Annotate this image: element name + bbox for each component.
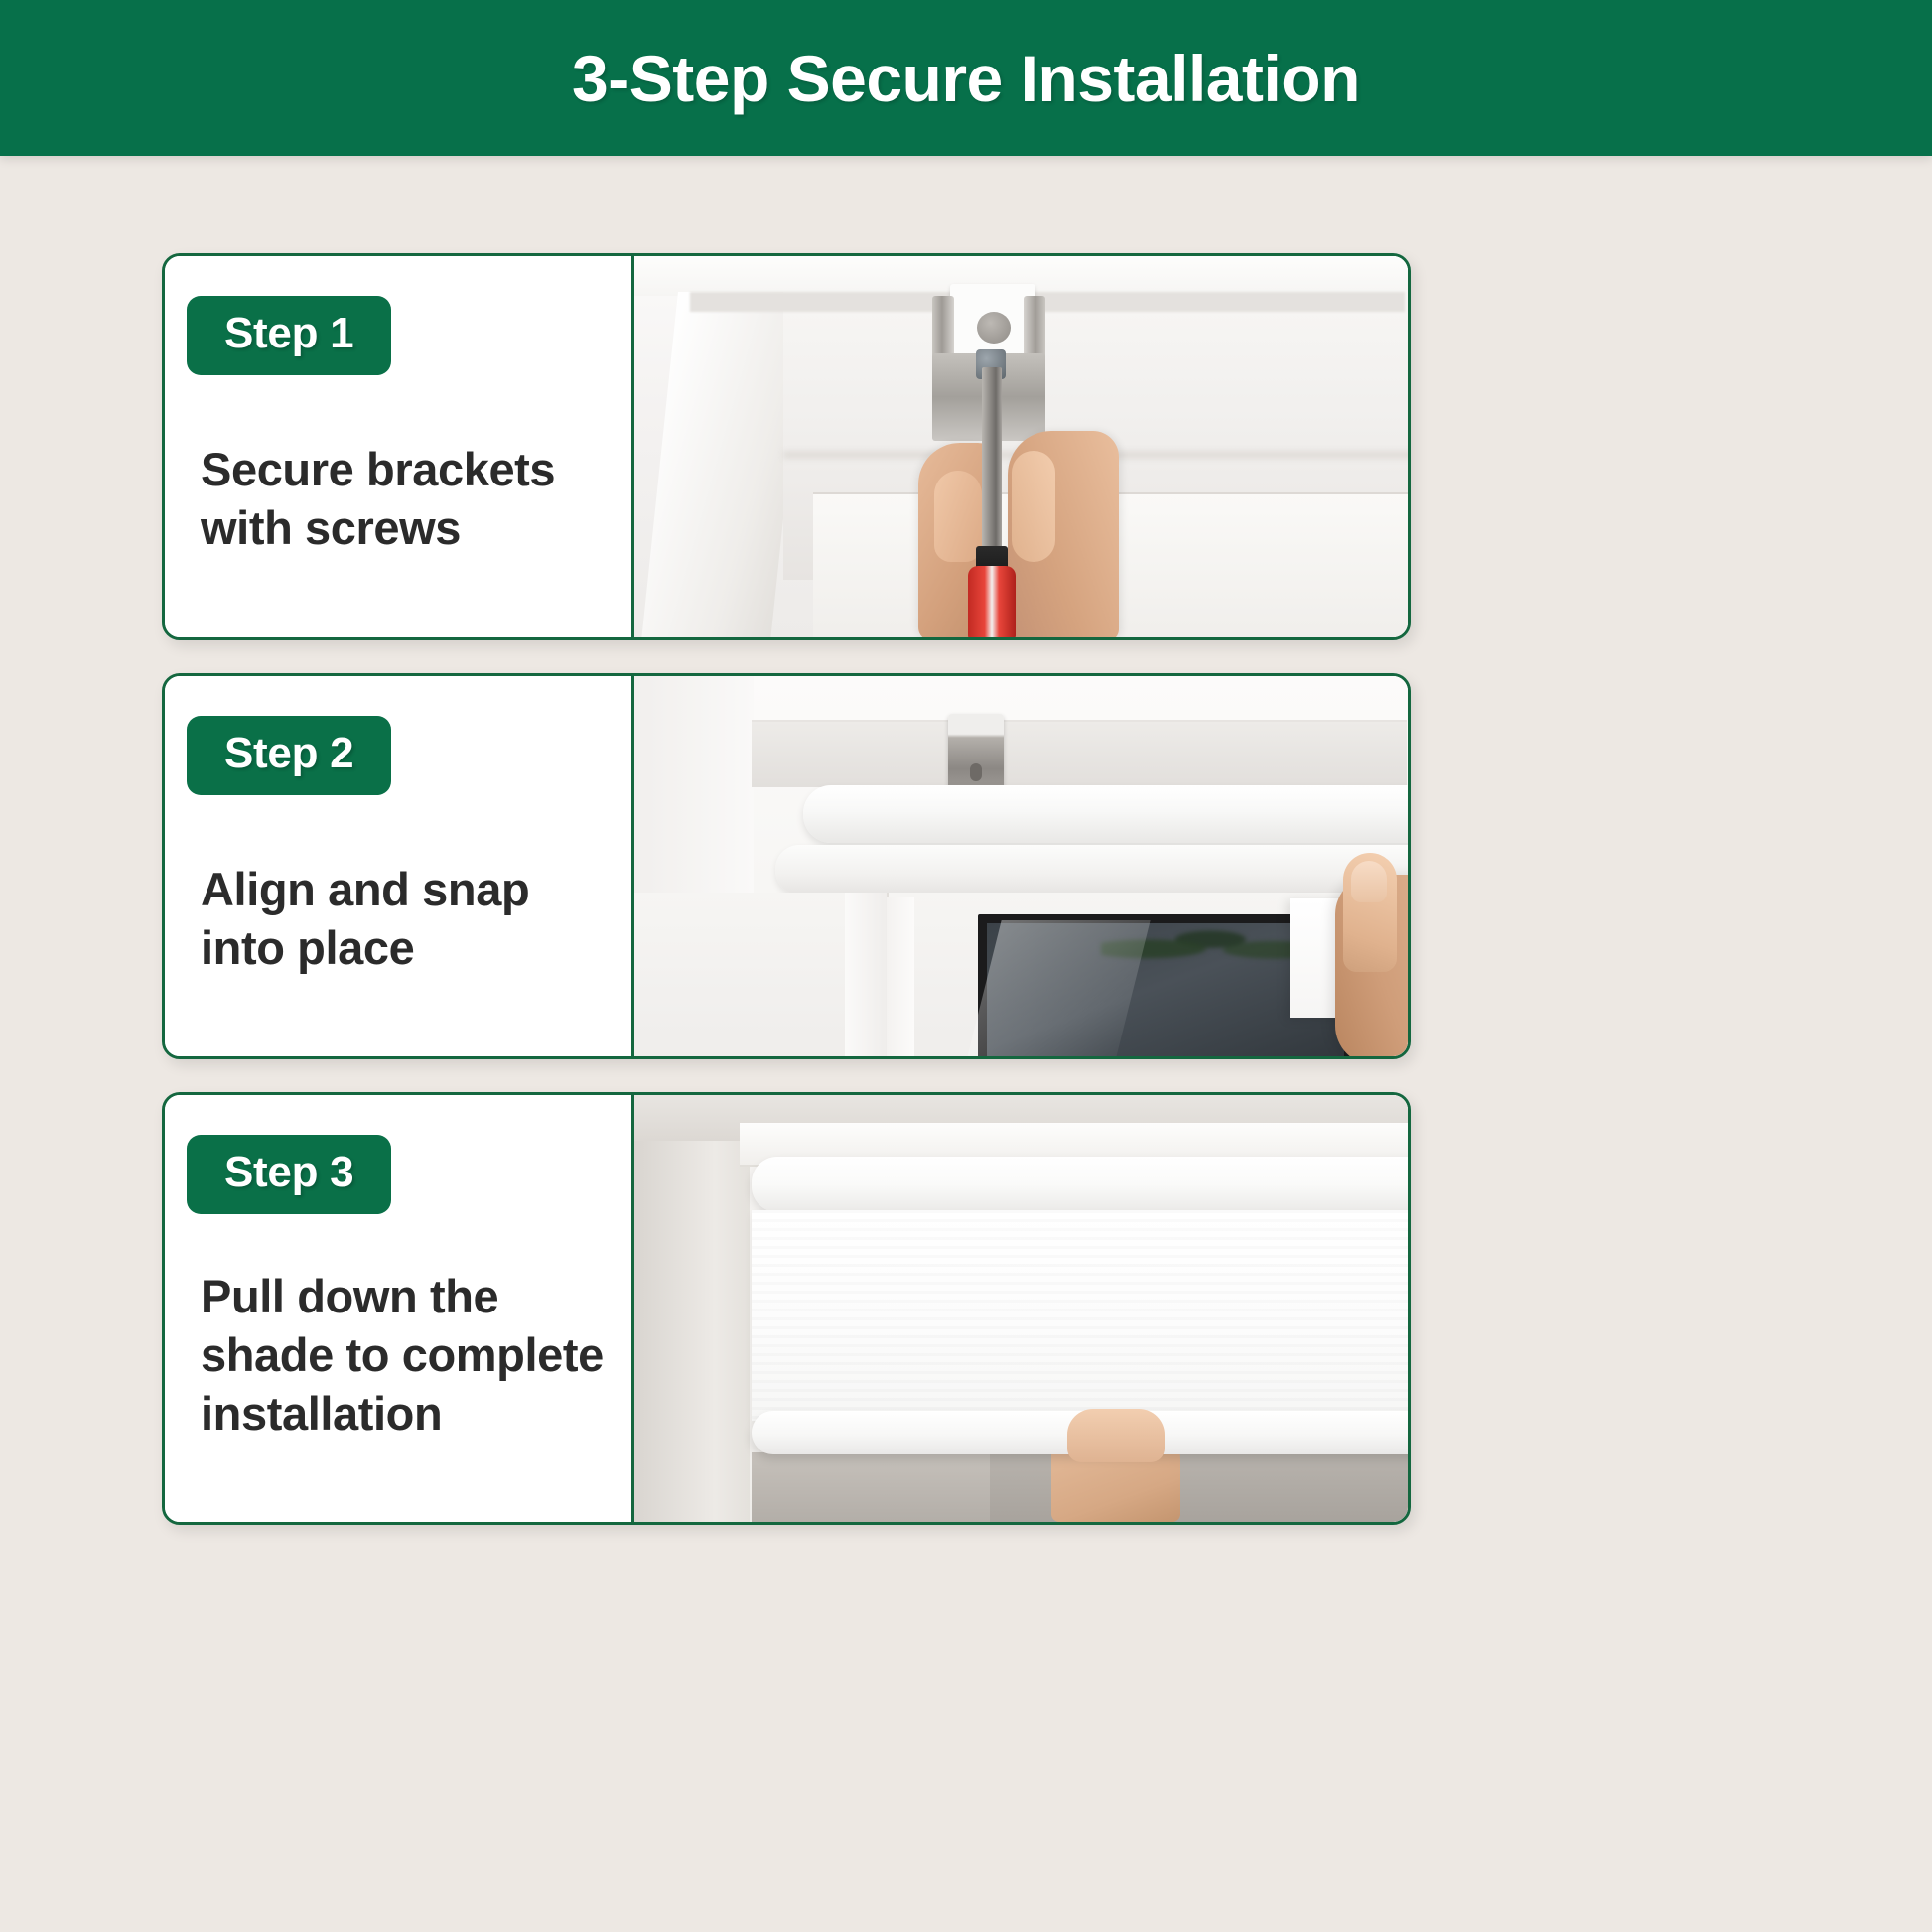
- photo-1-screwdriver-handle: [968, 566, 1016, 637]
- photo-1-left-thumb: [934, 471, 982, 562]
- photo-3-sill: [752, 1452, 990, 1522]
- photo-1-right-finger: [1012, 451, 1055, 562]
- photo-2-thumbnail: [1351, 861, 1387, 902]
- photo-2-window-frame-left: [845, 893, 889, 1056]
- infographic-page: 3-Step Secure Installation Step 1 Secure…: [0, 0, 1932, 1932]
- step-1-photo: [634, 256, 1408, 637]
- photo-3-casing-left: [634, 1095, 750, 1522]
- step-1-description: Secure brackets with screws: [201, 441, 618, 558]
- photo-2-recess: [752, 720, 1407, 787]
- step-2-badge: Step 2: [187, 716, 391, 795]
- photo-1-screwdriver-shaft: [982, 367, 1002, 571]
- photo-3-shade-fabric: [752, 1210, 1408, 1421]
- photo-2-shade-roll: [775, 845, 1408, 895]
- photo-1-bracket-hole: [977, 312, 1011, 344]
- step-card-2[interactable]: Step 2 Align and snap into place: [162, 673, 1411, 1059]
- step-1-text-panel: Step 1 Secure brackets with screws: [165, 256, 634, 637]
- photo-1-recess-edge: [690, 292, 1405, 312]
- photo-2-headrail: [803, 785, 1408, 843]
- step-1-badge: Step 1: [187, 296, 391, 375]
- photo-3-headrail: [752, 1157, 1408, 1212]
- step-card-3[interactable]: Step 3 Pull down the shade to complete i…: [162, 1092, 1411, 1525]
- step-2-description: Align and snap into place: [201, 861, 618, 978]
- photo-2-window-jamb: [887, 897, 914, 1056]
- step-3-badge: Step 3: [187, 1135, 391, 1214]
- photo-2-bracket-hole: [970, 763, 982, 781]
- step-3-photo: [634, 1095, 1408, 1522]
- step-3-text-panel: Step 3 Pull down the shade to complete i…: [165, 1095, 634, 1522]
- step-2-text-panel: Step 2 Align and snap into place: [165, 676, 634, 1056]
- header-banner: 3-Step Secure Installation: [0, 0, 1932, 156]
- page-title: 3-Step Secure Installation: [572, 41, 1360, 116]
- photo-3-fingers: [1067, 1409, 1165, 1462]
- step-3-description: Pull down the shade to complete installa…: [201, 1268, 618, 1443]
- step-card-1[interactable]: Step 1 Secure brackets with screws: [162, 253, 1411, 640]
- step-2-photo: [634, 676, 1408, 1056]
